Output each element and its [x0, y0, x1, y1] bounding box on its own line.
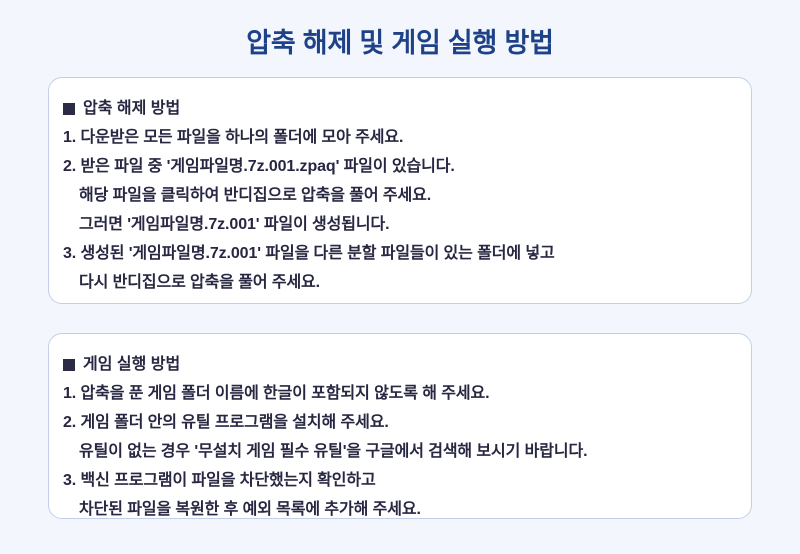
instructions-page: 압축 해제 및 게임 실행 방법 압축 해제 방법 1. 다운받은 모든 파일을…: [0, 0, 800, 554]
card-run-instructions: 게임 실행 방법 1. 압축을 푼 게임 폴더 이름에 한글이 포함되지 않도록…: [48, 333, 752, 519]
card-run-heading-label: 게임 실행 방법: [83, 350, 180, 379]
card-run-heading: 게임 실행 방법: [63, 350, 737, 379]
list-item: 유틸이 없는 경우 '무설치 게임 필수 유틸'을 구글에서 검색해 보시기 바…: [63, 437, 737, 466]
card-unzip-instructions: 압축 해제 방법 1. 다운받은 모든 파일을 하나의 폴더에 모아 주세요. …: [48, 77, 752, 304]
list-item: 1. 압축을 푼 게임 폴더 이름에 한글이 포함되지 않도록 해 주세요.: [63, 379, 737, 408]
list-item: 3. 백신 프로그램이 파일을 차단했는지 확인하고: [63, 466, 737, 495]
list-item: 차단된 파일을 복원한 후 예외 목록에 추가해 주세요.: [63, 495, 737, 524]
square-bullet-icon: [63, 359, 75, 371]
square-bullet-icon: [63, 103, 75, 115]
card-unzip-heading-label: 압축 해제 방법: [83, 94, 180, 123]
page-title: 압축 해제 및 게임 실행 방법: [0, 26, 800, 60]
list-item: 해당 파일을 클릭하여 반디집으로 압축을 풀어 주세요.: [63, 181, 737, 210]
card-unzip-heading: 압축 해제 방법: [63, 94, 737, 123]
list-item: 그러면 '게임파일명.7z.001' 파일이 생성됩니다.: [63, 210, 737, 239]
list-item: 3. 생성된 '게임파일명.7z.001' 파일을 다른 분할 파일들이 있는 …: [63, 239, 737, 268]
list-item: 다시 반디집으로 압축을 풀어 주세요.: [63, 268, 737, 297]
list-item: 2. 게임 폴더 안의 유틸 프로그램을 설치해 주세요.: [63, 408, 737, 437]
list-item: 2. 받은 파일 중 '게임파일명.7z.001.zpaq' 파일이 있습니다.: [63, 152, 737, 181]
list-item: 1. 다운받은 모든 파일을 하나의 폴더에 모아 주세요.: [63, 123, 737, 152]
